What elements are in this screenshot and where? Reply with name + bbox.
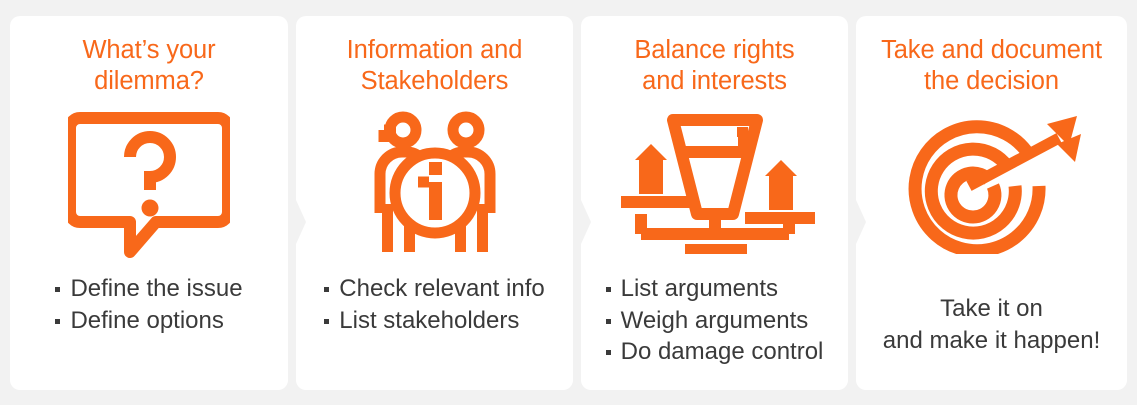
list-item: List stakeholders: [324, 305, 544, 337]
list-item: Define options: [55, 305, 242, 337]
step-card-3[interactable]: Balance rights and interests: [581, 16, 848, 390]
step-card-1-bullets: Define the issue Define options: [55, 273, 242, 336]
step-card-4-title: Take and document the decision: [875, 35, 1108, 97]
balance-scale-icon: [615, 109, 815, 259]
people-information-icon: [360, 109, 510, 259]
chevron-right-icon: [287, 200, 288, 244]
list-item: Check relevant info: [324, 273, 544, 305]
step-card-1-title: What’s your dilemma?: [76, 35, 221, 97]
chevron-notch-left: [296, 200, 306, 244]
list-item: Do damage control: [606, 336, 824, 368]
step-card-2[interactable]: Information and Stakeholders: [296, 16, 573, 390]
chevron-notch-left: [581, 200, 591, 244]
step-card-1[interactable]: What’s your dilemma? Define the issue De…: [10, 16, 288, 390]
step-card-4[interactable]: Take and document the decision Take i: [856, 16, 1127, 390]
step-card-2-title: Information and Stakeholders: [341, 35, 529, 97]
step-card-3-bullets: List arguments Weigh arguments Do damage…: [606, 273, 824, 368]
chevron-notch-left: [856, 200, 866, 244]
target-arrow-icon: [897, 109, 1087, 259]
list-item: List arguments: [606, 273, 824, 305]
step-card-4-closing: Take it on and make it happen!: [883, 293, 1101, 356]
chevron-right-icon: [847, 200, 848, 244]
decision-process-diagram: What’s your dilemma? Define the issue De…: [0, 0, 1137, 405]
step-card-2-bullets: Check relevant info List stakeholders: [324, 273, 544, 336]
list-item: Define the issue: [55, 273, 242, 305]
speech-bubble-question-icon: [68, 109, 230, 259]
chevron-right-icon: [572, 200, 573, 244]
list-item: Weigh arguments: [606, 305, 824, 337]
step-card-3-title: Balance rights and interests: [628, 35, 800, 97]
